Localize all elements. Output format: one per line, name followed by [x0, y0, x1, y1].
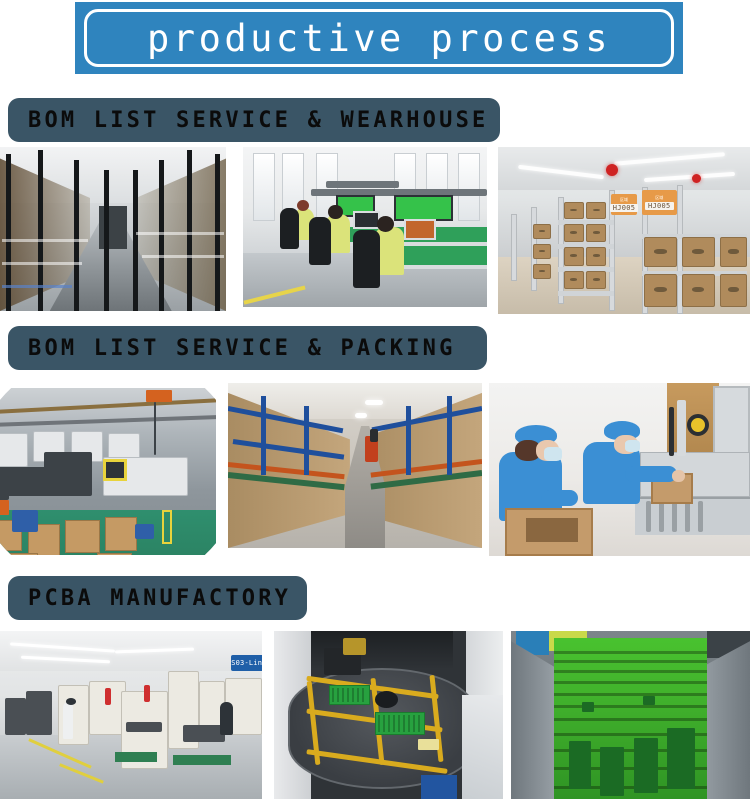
warehouse-aisle-scene — [228, 383, 482, 548]
packing-line-scene — [489, 383, 750, 556]
section-heading-label: BOM LIST SERVICE & PACKING — [28, 336, 456, 361]
photo-pcb-conveyor — [511, 631, 750, 799]
section-heading-bom-wearhouse: BOM LIST SERVICE & WEARHOUSE — [8, 98, 500, 142]
photo-row-pcba: S03-Line — [0, 631, 750, 799]
productive-process-page: productive process BOM LIST SERVICE & WE… — [0, 0, 750, 800]
rack-sign-right-cn: 区域 — [655, 196, 663, 200]
photo-smt-production-line: S03-Line — [0, 631, 262, 799]
molding-workshop-scene — [0, 388, 216, 555]
section-heading-label: PCBA MANUFACTORY — [28, 586, 291, 611]
section-heading-label: BOM LIST SERVICE & WEARHOUSE — [28, 108, 488, 133]
photo-molding-workshop — [0, 388, 216, 555]
rack-sign-right: 区域 HJ005 — [642, 190, 677, 215]
storage-racks-scene: 区域 HJ005 区域 HJ005 — [498, 147, 750, 314]
warehouse-corridor-scene — [0, 147, 226, 311]
rack-sign-left-cn: 区域 — [620, 198, 628, 202]
photo-bom-workstations — [243, 147, 487, 307]
bom-workstations-scene — [243, 147, 487, 307]
page-title-frame: productive process — [84, 9, 674, 67]
line-sign-label: S03-Line — [231, 659, 262, 667]
section-heading-bom-packing: BOM LIST SERVICE & PACKING — [8, 326, 487, 370]
photo-warehouse-corridor — [0, 147, 226, 311]
rack-sign-left-code: HJ005 — [610, 204, 639, 212]
smt-production-line-scene: S03-Line — [0, 631, 262, 799]
photo-warehouse-aisle — [228, 383, 482, 548]
section-heading-pcba: PCBA MANUFACTORY — [8, 576, 307, 620]
photo-pcb-fixture-machine — [274, 631, 503, 799]
photo-storage-racks: 区域 HJ005 区域 HJ005 — [498, 147, 750, 314]
photo-packing-line — [489, 383, 750, 556]
pcb-fixture-machine-scene — [274, 631, 503, 799]
page-title: productive process — [147, 20, 611, 57]
line-sign: S03-Line — [231, 655, 262, 672]
pcb-conveyor-scene — [511, 631, 750, 799]
rack-sign-right-code: HJ005 — [645, 202, 674, 210]
rack-sign-left: 区域 HJ005 — [611, 194, 636, 216]
page-title-banner: productive process — [75, 2, 683, 74]
photo-row-wearhouse: 区域 HJ005 区域 HJ005 — [0, 147, 750, 312]
photo-row-packing — [0, 383, 750, 555]
